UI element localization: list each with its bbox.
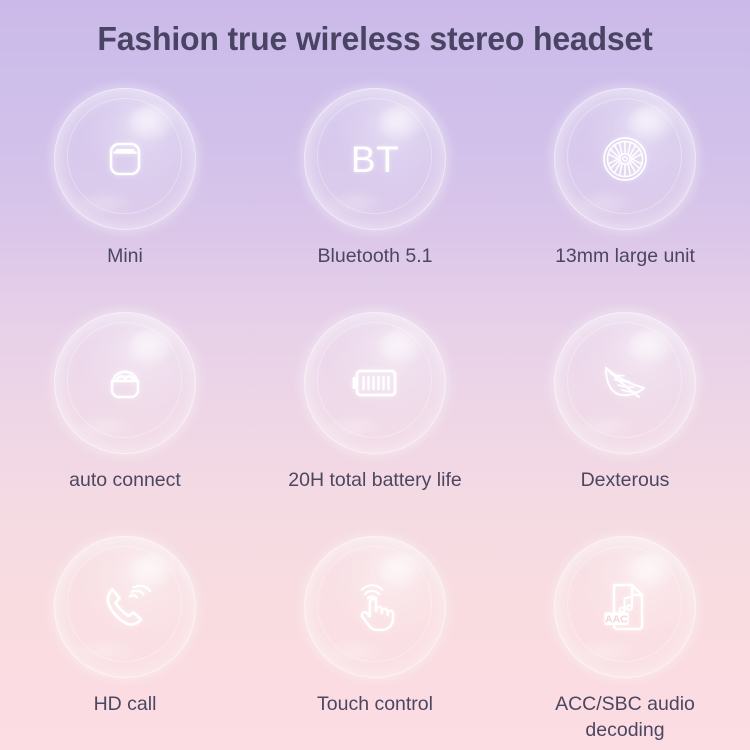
feature-item-battery: 20H total battery life <box>250 302 500 526</box>
bubble-lower-highlight <box>74 416 134 439</box>
feature-bubble <box>304 536 446 678</box>
feature-label: Bluetooth 5.1 <box>260 243 490 269</box>
feature-bubble <box>54 312 196 454</box>
bubble-lower-highlight <box>74 640 134 663</box>
feature-label: 20H total battery life <box>260 467 490 493</box>
charging-case-icon <box>97 131 153 187</box>
bubble-lower-highlight <box>324 192 384 215</box>
open-case-earbuds-icon <box>97 355 153 411</box>
feature-item-audio-decoding: AAC ACC/SBC audio decoding <box>500 526 750 750</box>
feature-label: Mini <box>10 243 240 269</box>
feature-bubble <box>54 88 196 230</box>
feature-label: auto connect <box>10 467 240 493</box>
feature-item-auto-connect: auto connect <box>0 302 250 526</box>
feature-bubble: BT <box>304 88 446 230</box>
product-feature-poster: Fashion true wireless stereo headset Min… <box>0 0 750 750</box>
bt-text-icon: BT <box>351 141 399 178</box>
page-title: Fashion true wireless stereo headset <box>11 0 739 78</box>
battery-icon <box>347 355 403 411</box>
feature-item-driver: 13mm large unit <box>500 78 750 302</box>
bubble-lower-highlight <box>324 640 384 663</box>
phone-call-icon <box>97 579 153 635</box>
bubble-lower-highlight <box>574 640 634 663</box>
feature-label: 13mm large unit <box>510 243 740 269</box>
feather-icon <box>597 355 653 411</box>
bubble-lower-highlight <box>74 192 134 215</box>
feature-bubble: AAC <box>554 536 696 678</box>
bubble-lower-highlight <box>324 416 384 439</box>
feature-item-hd-call: HD call <box>0 526 250 750</box>
feature-bubble <box>554 312 696 454</box>
feature-label: HD call <box>10 691 240 717</box>
feature-label: Dexterous <box>510 467 740 493</box>
feature-item-touch-control: Touch control <box>250 526 500 750</box>
feature-item-mini: Mini <box>0 78 250 302</box>
aac-badge-text: AAC <box>605 613 628 625</box>
bubble-highlight <box>378 105 426 142</box>
feature-label: Touch control <box>260 691 490 717</box>
feature-grid: Mini BT Bluetooth 5.1 <box>0 78 750 750</box>
speaker-driver-icon <box>597 131 653 187</box>
bubble-lower-highlight <box>574 192 634 215</box>
feature-item-dexterous: Dexterous <box>500 302 750 526</box>
audio-file-aac-icon: AAC <box>597 579 653 635</box>
touch-hand-icon <box>347 579 403 635</box>
feature-label: ACC/SBC audio decoding <box>510 691 740 743</box>
feature-bubble <box>554 88 696 230</box>
feature-item-bluetooth: BT Bluetooth 5.1 <box>250 78 500 302</box>
feature-bubble <box>54 536 196 678</box>
bubble-lower-highlight <box>574 416 634 439</box>
feature-bubble <box>304 312 446 454</box>
